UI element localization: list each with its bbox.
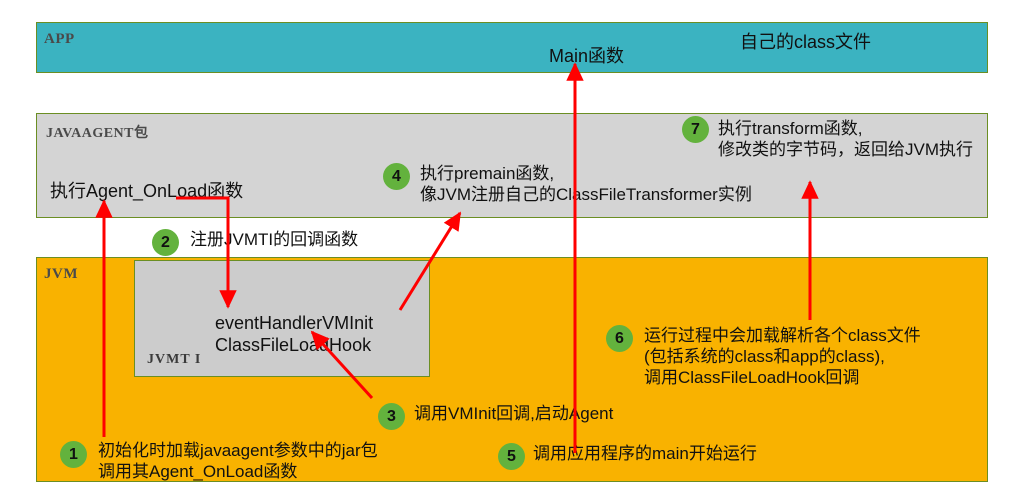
main-function-label: Main函数: [549, 46, 624, 67]
diagram-canvas: APP JAVAAGENT包 JVM JVMT I eventHandlerVM…: [0, 0, 1015, 496]
step-badge-6: 6: [606, 325, 633, 352]
javaagent-layer-label: JAVAAGENT包: [46, 122, 149, 142]
step-badge-2: 2: [152, 229, 179, 256]
step-note-2: 注册JVMTI的回调函数: [190, 229, 358, 250]
step-badge-1: 1: [60, 441, 87, 468]
app-class-file-label: 自己的class文件: [740, 32, 871, 53]
step-badge-5: 5: [498, 443, 525, 470]
jvmti-box-label: JVMT I: [147, 352, 201, 368]
step-note-3: 调用VMInit回调,启动Agent: [414, 403, 613, 424]
jvmti-callback-list: eventHandlerVMInit ClassFileLoadHook: [215, 312, 373, 356]
step-badge-3: 3: [378, 403, 405, 430]
step-note-6: 运行过程中会加载解析各个class文件 (包括系统的class和app的clas…: [644, 325, 921, 388]
step-note-5: 调用应用程序的main开始运行: [533, 443, 757, 464]
step-note-1: 初始化时加载javaagent参数中的jar包 调用其Agent_OnLoad函…: [98, 440, 378, 482]
step-badge-4: 4: [383, 163, 410, 190]
step-badge-7: 7: [682, 116, 709, 143]
jvm-layer-label: JVM: [44, 266, 78, 283]
step-note-7: 执行transform函数, 修改类的字节码，返回给JVM执行: [718, 118, 973, 160]
step-note-4: 执行premain函数, 像JVM注册自己的ClassFileTransform…: [420, 163, 752, 205]
app-layer-label: APP: [44, 31, 75, 48]
agent-onload-label: 执行Agent_OnLoad函数: [50, 181, 243, 202]
